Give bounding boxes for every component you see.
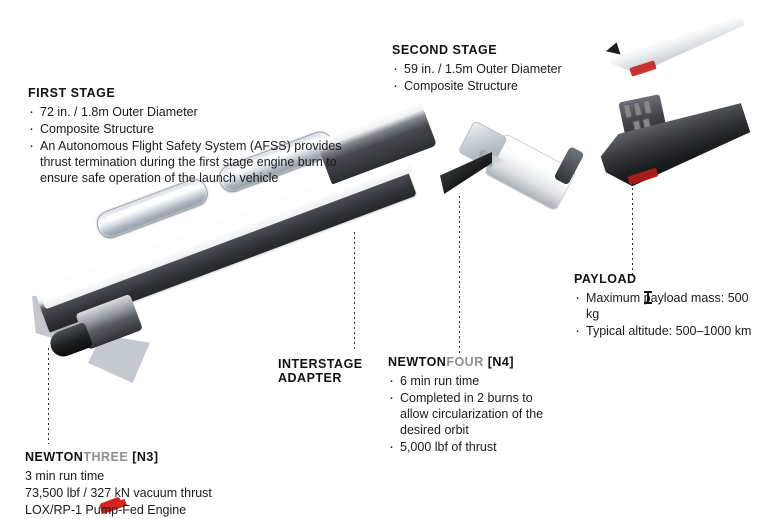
leader-line-payload (632, 183, 633, 275)
list-item: An Autonomous Flight Safety System (AFSS… (28, 138, 348, 186)
list-item: Composite Structure (28, 121, 348, 137)
list-item: Typical altitude: 500–1000 km (574, 323, 764, 339)
first-stage-illustration (24, 185, 434, 380)
list-item: 73,500 lbf / 327 kN vacuum thrust (25, 485, 285, 501)
first-stage-bullet-list: 72 in. / 1.8m Outer Diameter Composite S… (28, 104, 348, 186)
list-item: 59 in. / 1.5m Outer Diameter (392, 61, 612, 77)
payload-heading: PAYLOAD (574, 272, 764, 286)
fairing-upper-half (600, 0, 749, 81)
callout-first-stage: FIRST STAGE 72 in. / 1.8m Outer Diameter… (28, 86, 348, 187)
leader-line-interstage (354, 232, 355, 352)
list-item: LOX/RP-1 Pump-Fed Engine (25, 502, 285, 518)
leader-line-newton-four (459, 196, 460, 354)
list-item: 3 min run time (25, 468, 285, 484)
callout-newton-four: NEWTONFOUR [N4] 6 min run time Completed… (388, 355, 553, 456)
list-item: 6 min run time (388, 373, 553, 389)
list-item: Composite Structure (392, 78, 612, 94)
interstage-heading-line-1: INTERSTAGE (278, 357, 388, 371)
satellite-module (623, 103, 633, 118)
newton-three-heading: NEWTONTHREE [N3] (25, 450, 285, 464)
newton-three-heading-light: THREE (83, 450, 128, 464)
second-stage-illustration (432, 112, 602, 212)
newton-four-heading: NEWTONFOUR [N4] (388, 355, 553, 369)
newton-three-spec-list: 3 min run time 73,500 lbf / 327 kN vacuu… (25, 468, 285, 518)
payload-bullet-list: Maximum payload mass: 500 kg Typical alt… (574, 290, 764, 339)
newton-three-code: [N3] (132, 450, 158, 464)
newton-four-heading-bold: NEWTON (388, 355, 446, 369)
newton-four-code: [N4] (488, 355, 514, 369)
leader-line-newton-three (48, 348, 49, 444)
callout-interstage-adapter: INTERSTAGE ADAPTER (278, 357, 388, 389)
callout-payload: PAYLOAD Maximum payload mass: 500 kg Typ… (574, 272, 764, 340)
list-item: 5,000 lbf of thrust (388, 439, 553, 455)
tank-highlight (106, 184, 193, 220)
callout-second-stage: SECOND STAGE 59 in. / 1.5m Outer Diamete… (392, 43, 612, 95)
newton-four-bullet-list: 6 min run time Completed in 2 burns to a… (388, 373, 553, 455)
text-cursor (647, 291, 649, 304)
list-item: 72 in. / 1.8m Outer Diameter (28, 104, 348, 120)
newton-three-heading-bold: NEWTON (25, 450, 83, 464)
interstage-heading-line-2: ADAPTER (278, 371, 388, 385)
payload-fairing-illustration (600, 20, 768, 220)
callout-newton-three: NEWTONTHREE [N3] 3 min run time 73,500 l… (25, 450, 285, 519)
newton-four-heading-light: FOUR (446, 355, 483, 369)
newton-four-nozzle (440, 152, 492, 194)
first-stage-heading: FIRST STAGE (28, 86, 348, 100)
second-stage-heading: SECOND STAGE (392, 43, 612, 57)
diagram-canvas: FIRST STAGE 72 in. / 1.8m Outer Diameter… (0, 0, 768, 519)
list-item: Maximum payload mass: 500 kg (574, 290, 764, 322)
satellite-module (642, 99, 652, 114)
list-item: Completed in 2 burns to allow circulariz… (388, 390, 553, 438)
satellite-module (633, 101, 643, 116)
second-stage-bullet-list: 59 in. / 1.5m Outer Diameter Composite S… (392, 61, 612, 94)
